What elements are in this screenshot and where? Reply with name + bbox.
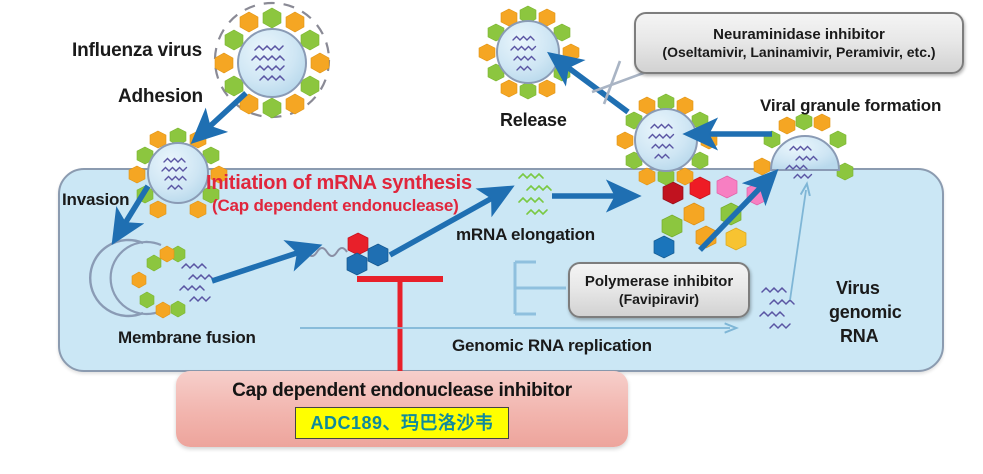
arrow-release (566, 66, 628, 112)
virus-free-particle (215, 8, 329, 118)
neuraminidase-inhibitor-title: Neuraminidase inhibitor (713, 26, 885, 44)
virus-released-particle (479, 6, 579, 99)
polymerase-inhibitor-drugs: (Favipiravir) (619, 291, 699, 308)
polymerase-inhibitor-box[interactable]: Polymerase inhibitor (Favipiravir) (568, 262, 750, 318)
label-virus-genomic-rna-3: RNA (840, 326, 878, 347)
cap-inhibitor-drug-highlight: ADC189、玛巴洛沙韦 (295, 407, 508, 439)
label-cap-dependent-endonuclease: (Cap dependent endonuclease) (212, 196, 459, 216)
diagram-canvas: Influenza virus Adhesion Invasion Membra… (0, 0, 983, 474)
cap-inhibitor-title: Cap dependent endonuclease inhibitor (232, 380, 572, 402)
label-invasion: Invasion (62, 190, 129, 210)
polymerase-inhibitor-title: Polymerase inhibitor (585, 273, 733, 291)
label-virus-genomic-rna-1: Virus (836, 278, 880, 299)
label-genomic-rna-replication: Genomic RNA replication (452, 336, 652, 356)
neuraminidase-inhibitor-drugs: (Oseltamivir, Laninamivir, Peramivir, et… (662, 44, 935, 61)
label-mrna-elongation: mRNA elongation (456, 225, 595, 245)
label-influenza-virus: Influenza virus (72, 40, 202, 62)
neuraminidase-inhibitor-box[interactable]: Neuraminidase inhibitor (Oseltamivir, La… (634, 12, 964, 74)
adhesion-dashed-circle (215, 3, 329, 117)
label-release: Release (500, 110, 567, 131)
arrow-adhesion (208, 93, 246, 128)
label-viral-granule-formation: Viral granule formation (760, 96, 941, 116)
label-virus-genomic-rna-2: genomic (829, 302, 902, 323)
label-membrane-fusion: Membrane fusion (118, 328, 256, 348)
label-initiation-mrna-synthesis: Initiation of mRNA synthesis (206, 172, 472, 195)
label-adhesion: Adhesion (118, 86, 203, 108)
cap-endonuclease-inhibitor-box[interactable]: Cap dependent endonuclease inhibitor ADC… (176, 371, 628, 447)
